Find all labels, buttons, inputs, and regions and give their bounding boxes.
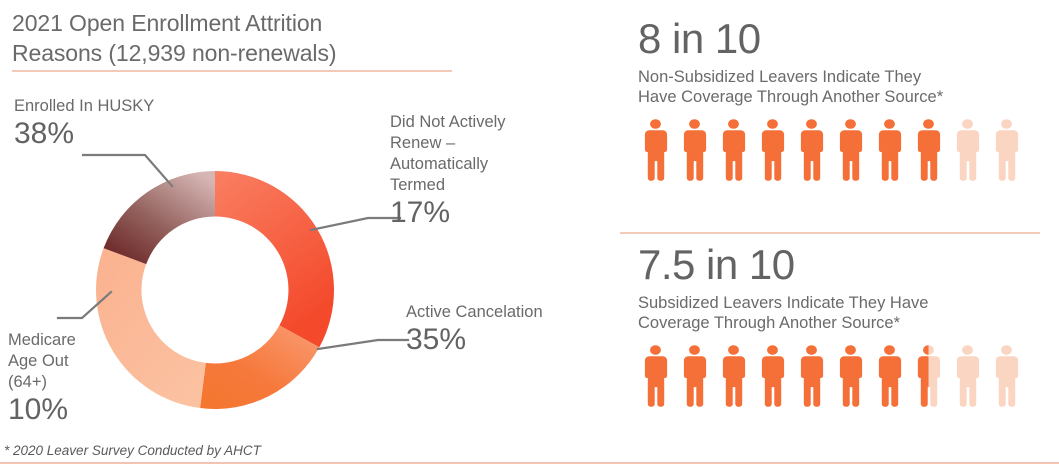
person-icon (638, 342, 673, 412)
person-icon (716, 342, 751, 412)
person-icon (794, 116, 829, 186)
person-icon (716, 116, 751, 186)
callout-label-medicare-age-out: Medicare Age Out (64+) (8, 330, 76, 393)
footnote-rule (0, 462, 1059, 464)
callout-active-cancelation: Active Cancelation 35% (406, 302, 543, 357)
callout-label-enrolled-in-husky: Enrolled In HUSKY (14, 96, 154, 117)
callout-medicare-age-out: Medicare Age Out (64+) 10% (8, 330, 76, 427)
person-icon (755, 342, 790, 412)
person-icon (677, 116, 712, 186)
person-icon (950, 342, 985, 412)
person-icon (638, 116, 673, 186)
person-icon (872, 342, 907, 412)
stat-block-subsidized: 7.5 in 10 Subsidized Leavers Indicate Th… (638, 240, 1048, 412)
person-icon (989, 116, 1024, 186)
stat-description-subsidized: Subsidized Leavers Indicate They Have Co… (638, 293, 1048, 333)
person-icon (950, 116, 985, 186)
callout-leader-lines (0, 0, 615, 465)
person-icon (794, 342, 829, 412)
stat-headline-subsidized: 7.5 in 10 (638, 240, 1048, 290)
leader-line-medicare (58, 292, 111, 318)
callout-did-not-actively-renew: Did Not Actively Renew – Automatically T… (390, 112, 506, 230)
person-icon (989, 342, 1024, 412)
stat-description-non-subsidized: Non-Subsidized Leavers Indicate They Hav… (638, 67, 1048, 107)
person-icon (911, 116, 946, 186)
leader-line-cancel (318, 340, 408, 349)
person-icon (911, 342, 946, 412)
stat-block-non-subsidized: 8 in 10 Non-Subsidized Leavers Indicate … (638, 14, 1048, 186)
attrition-chart-panel: 2021 Open Enrollment Attrition Reasons (… (0, 0, 615, 465)
callout-value-medicare-age-out: 10% (8, 393, 76, 427)
pictogram-subsidized (638, 342, 1048, 412)
callout-value-did-not-actively-renew: 17% (390, 196, 506, 230)
stat-headline-non-subsidized: 8 in 10 (638, 14, 1048, 64)
callout-label-did-not-actively-renew: Did Not Actively Renew – Automatically T… (390, 112, 506, 196)
person-icon (833, 342, 868, 412)
callout-value-active-cancelation: 35% (406, 323, 543, 357)
callout-value-enrolled-in-husky: 38% (14, 117, 154, 151)
person-icon (677, 342, 712, 412)
callout-enrolled-in-husky: Enrolled In HUSKY 38% (14, 96, 154, 151)
pictogram-non-subsidized (638, 116, 1048, 186)
panel-divider (620, 232, 1040, 234)
person-icon (755, 116, 790, 186)
callout-label-active-cancelation: Active Cancelation (406, 302, 543, 323)
footnote: * 2020 Leaver Survey Conducted by AHCT (4, 443, 261, 458)
leader-line-renew (311, 218, 400, 230)
person-icon (872, 116, 907, 186)
person-icon (833, 116, 868, 186)
coverage-stats-panel: 8 in 10 Non-Subsidized Leavers Indicate … (618, 0, 1059, 465)
leader-line-husky (83, 155, 172, 186)
